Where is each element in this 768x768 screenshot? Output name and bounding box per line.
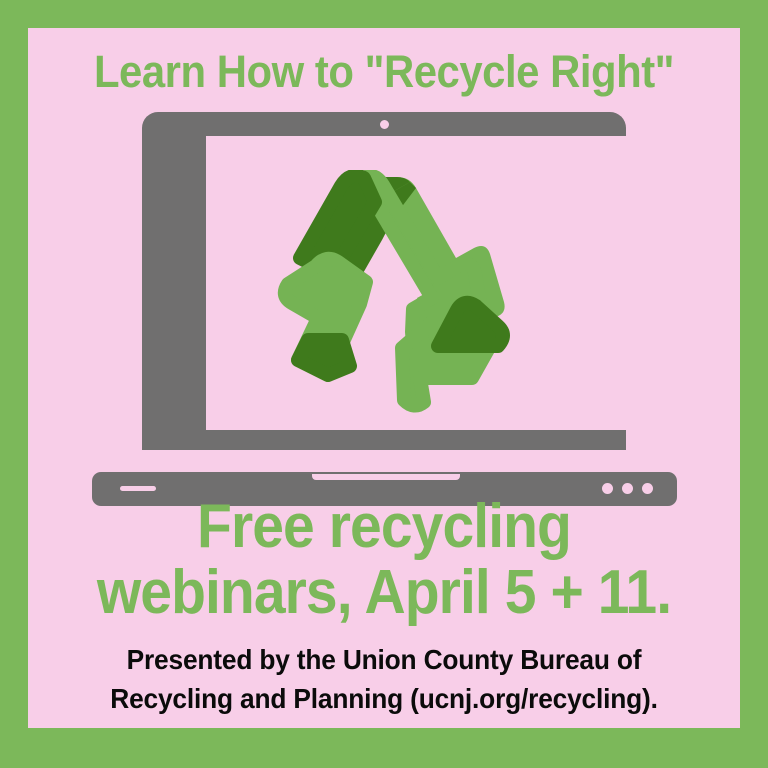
laptop-base-indicator-line	[120, 486, 156, 491]
recycle-arrow-left	[285, 259, 366, 375]
laptop-illustration	[92, 110, 677, 506]
event-headline-line-2: webinars, April 5 + 11.	[56, 560, 711, 626]
poster-inner-panel: Learn How to "Recycle Right"	[28, 28, 740, 728]
event-headline: Free recycling webinars, April 5 + 11.	[56, 494, 711, 626]
presenter-credit: Presented by the Union County Bureau of …	[49, 640, 718, 718]
presenter-credit-line-2: Recycling and Planning (ucnj.org/recycli…	[49, 679, 718, 718]
poster-canvas: Learn How to "Recycle Right"	[0, 0, 768, 768]
base-dot	[642, 483, 653, 494]
webcam-dot-icon	[380, 120, 389, 129]
base-dot	[622, 483, 633, 494]
laptop-base-dots	[602, 483, 653, 494]
base-dot	[602, 483, 613, 494]
event-headline-line-1: Free recycling	[56, 494, 711, 560]
presenter-credit-line-1: Presented by the Union County Bureau of	[49, 640, 718, 679]
laptop-hinge-slot	[312, 474, 460, 480]
page-title: Learn How to "Recycle Right"	[53, 46, 715, 98]
recycling-symbol-arrows	[242, 170, 532, 420]
